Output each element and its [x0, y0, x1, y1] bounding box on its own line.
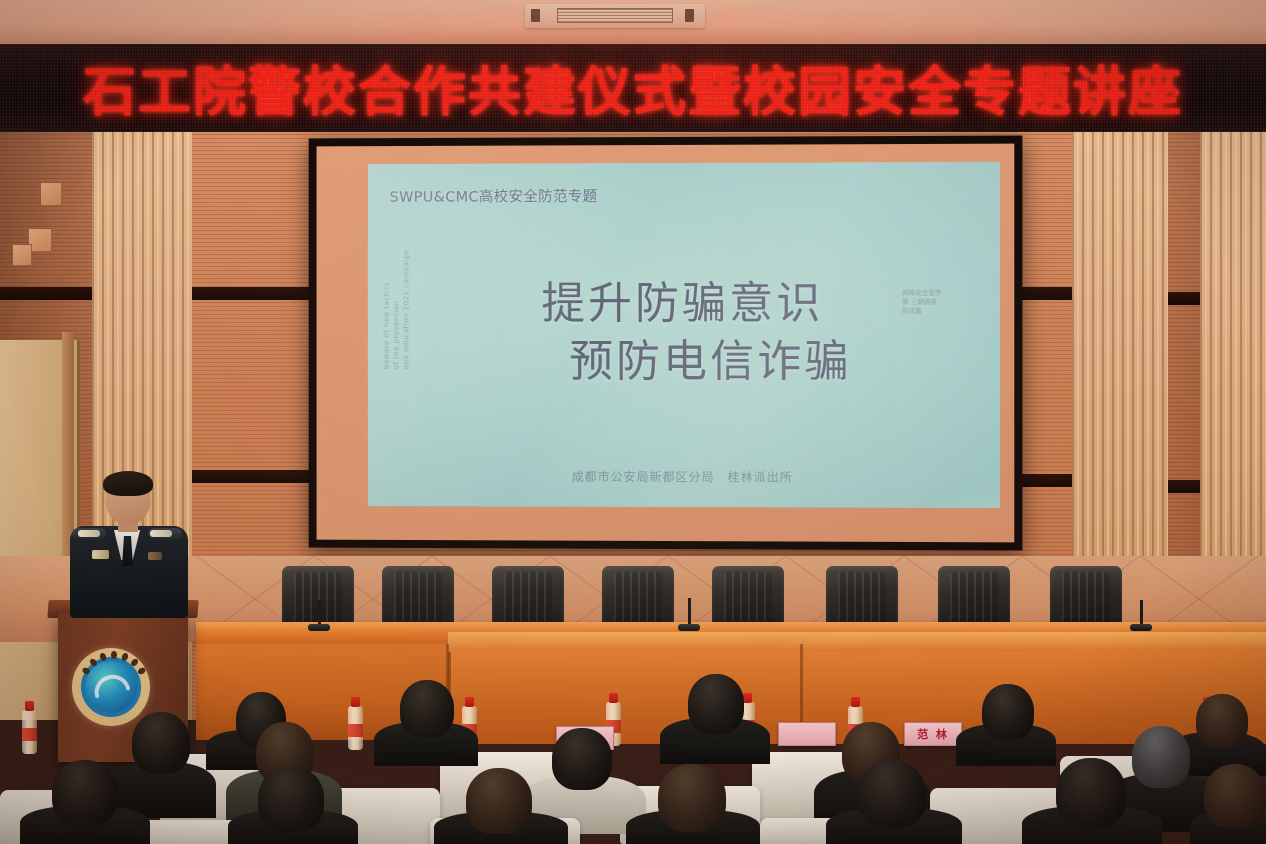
led-banner: 石工院警校合作共建仪式暨校园安全专题讲座 — [0, 44, 1266, 132]
head-table-surface-right — [448, 632, 1266, 654]
ceiling-air-vent-icon — [525, 4, 705, 28]
gooseneck-microphone[interactable] — [1140, 600, 1143, 626]
wall-trim-band — [0, 287, 94, 300]
wall-plaque — [12, 244, 32, 266]
presenter-police-officer — [62, 474, 192, 614]
stage-chair[interactable] — [1050, 566, 1122, 630]
gooseneck-microphone[interactable] — [688, 598, 691, 626]
stage-chair[interactable] — [826, 566, 898, 630]
attendee-head — [466, 768, 532, 834]
vent-slot-right — [685, 9, 694, 22]
wall-trim-band — [192, 470, 312, 483]
stage-chair[interactable] — [938, 566, 1010, 630]
screen-mat: SWPU&CMC高校安全防范专题 Beware of new tactics o… — [317, 144, 1015, 543]
attendee-head — [132, 712, 190, 774]
stage-chair[interactable] — [382, 566, 454, 630]
audience-area — [0, 660, 1266, 844]
attendee-head — [52, 760, 118, 826]
presenter-nametag — [148, 552, 162, 560]
attendee-head — [258, 766, 324, 832]
presenter-epaulet-right — [150, 530, 172, 537]
attendee-head — [400, 680, 454, 738]
attendee-head — [1056, 758, 1126, 828]
wall-trim-band — [1016, 287, 1074, 300]
stage-chair[interactable] — [602, 566, 674, 630]
attendee-head — [658, 764, 726, 832]
microphone-base — [678, 624, 700, 631]
presenter-hair — [103, 471, 153, 496]
slide-title-line1: 提升防骗意识 — [541, 278, 823, 329]
attendee-head — [982, 684, 1034, 740]
microphone-base — [308, 624, 330, 631]
led-banner-text: 石工院警校合作共建仪式暨校园安全专题讲座 — [0, 50, 1266, 126]
projection-screen: SWPU&CMC高校安全防范专题 Beware of new tactics o… — [309, 136, 1023, 551]
presenter-badge — [92, 550, 109, 559]
slide-title-line2: 预防电信诈骗 — [368, 333, 1000, 391]
vent-grille — [557, 8, 673, 23]
slide-footer-text: 成都市公安局新都区分局 桂林派出所 — [368, 467, 1000, 486]
microphone-base — [1130, 624, 1152, 631]
presentation-slide: SWPU&CMC高校安全防范专题 Beware of new tactics o… — [368, 162, 1000, 508]
stage-chair[interactable] — [712, 566, 784, 630]
attendee-head — [688, 674, 744, 734]
wall-trim-band — [192, 287, 312, 300]
attendee-head — [858, 760, 926, 828]
gooseneck-microphone[interactable] — [318, 600, 321, 626]
lecture-hall-photo: SWPU&CMC高校安全防范专题 Beware of new tactics o… — [0, 0, 1266, 844]
presenter-epaulet-left — [78, 530, 100, 537]
wall-trim-band — [1016, 474, 1074, 487]
attendee-head — [1204, 764, 1266, 828]
attendee-head — [552, 728, 612, 790]
stage-chair[interactable] — [492, 566, 564, 630]
wall-plaque — [40, 182, 62, 206]
attendee-head — [1196, 694, 1248, 748]
attendee-head — [1132, 726, 1190, 788]
slide-header-text: SWPU&CMC高校安全防范专题 — [390, 185, 598, 207]
slide-side-note: 网络安全宣传 第 三期讲座 防诈篇 — [902, 289, 941, 316]
vent-slot-left — [531, 9, 540, 22]
